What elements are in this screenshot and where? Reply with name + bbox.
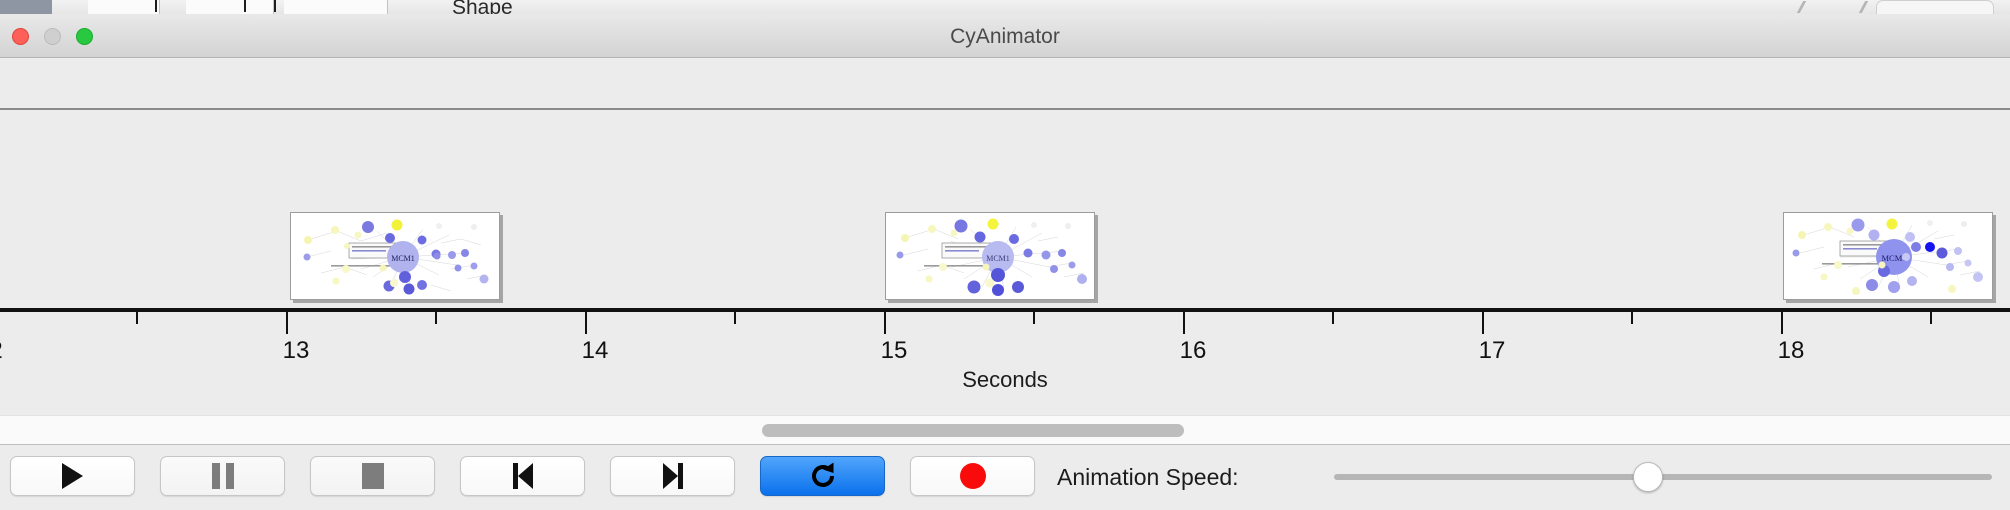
network-thumbnail: MCM1 [885,212,1095,300]
record-button[interactable] [910,456,1035,496]
network-thumbnail: MCM1 [290,212,500,300]
ruler-tick-minor [1930,312,1932,324]
background-rounded-panel [1876,0,1994,14]
loop-button[interactable] [760,456,885,496]
frame-toolbar: Clear All Frames [0,58,2010,110]
ruler-label: 13 [283,337,310,365]
ruler-label: 14 [582,337,609,365]
cyanimator-window: Shape CyAnimator Clear All Frames [0,0,2010,510]
animation-speed-slider[interactable] [1334,474,1992,480]
background-slash-1 [1797,1,1817,13]
background-panel-3 [284,0,388,14]
ruler-tick-minor [1033,312,1035,324]
background-shape-label: Shape [452,0,513,14]
ruler-tick-major [884,312,886,334]
ruler-tick-major [1183,312,1185,334]
ruler-label: 2 [0,337,3,365]
stop-icon [362,463,384,489]
background-titlebar-fragment [0,0,52,14]
loop-icon [808,461,838,491]
ruler-label: 17 [1479,337,1506,365]
keyframe-track[interactable]: MCM1 [0,112,2010,305]
play-button[interactable] [10,456,135,496]
skip-to-start-button[interactable] [460,456,585,496]
ruler-tick-minor [1332,312,1334,324]
background-tick-3 [274,0,276,12]
stop-button[interactable] [310,456,435,496]
skip-forward-icon [661,463,685,489]
background-tick-2 [244,0,246,12]
keyframe-thumbnail-1[interactable]: MCM1 [290,212,500,300]
ruler-axis-title: Seconds [0,367,2010,393]
animation-speed-slider-thumb[interactable] [1633,462,1663,492]
keyframe-thumbnail-2[interactable]: MCM1 [885,212,1095,300]
scrollbar-thumb[interactable] [762,424,1184,437]
ruler-tick-major [1482,312,1484,334]
window-title: CyAnimator [0,25,2010,49]
skip-back-icon [511,463,535,489]
background-window-strip: Shape [0,0,2010,14]
timeline-horizontal-scrollbar[interactable] [0,415,2010,445]
ruler-tick-minor [734,312,736,324]
svg-text:MCM1: MCM1 [391,254,415,263]
record-icon [960,463,986,489]
time-ruler: 2 13 14 15 16 17 18 Seconds [0,305,2010,415]
background-tick-1 [155,0,157,12]
background-panel-1 [88,0,160,14]
svg-text:MCM1: MCM1 [986,254,1010,263]
ruler-tick-minor [1631,312,1633,324]
ruler-label: 16 [1180,337,1207,365]
title-bar: CyAnimator [0,14,2010,58]
pause-icon [212,463,234,489]
background-panel-2 [186,0,274,14]
ruler-tick-major [1781,312,1783,334]
ruler-tick-major [286,312,288,334]
ruler-label: 18 [1778,337,1805,365]
skip-to-end-button[interactable] [610,456,735,496]
ruler-tick-minor [435,312,437,324]
pause-button[interactable] [160,456,285,496]
ruler-baseline [0,308,2010,312]
network-thumbnail: MCM1 [1783,212,1993,300]
ruler-tick-major [585,312,587,334]
ruler-tick-minor [136,312,138,324]
keyframe-thumbnail-3[interactable]: MCM1 [1783,212,1993,300]
play-icon [62,463,83,489]
animation-speed-label: Animation Speed: [1057,464,1239,491]
ruler-label: 15 [881,337,908,365]
playback-controls-bar: Animation Speed: [0,446,2010,510]
